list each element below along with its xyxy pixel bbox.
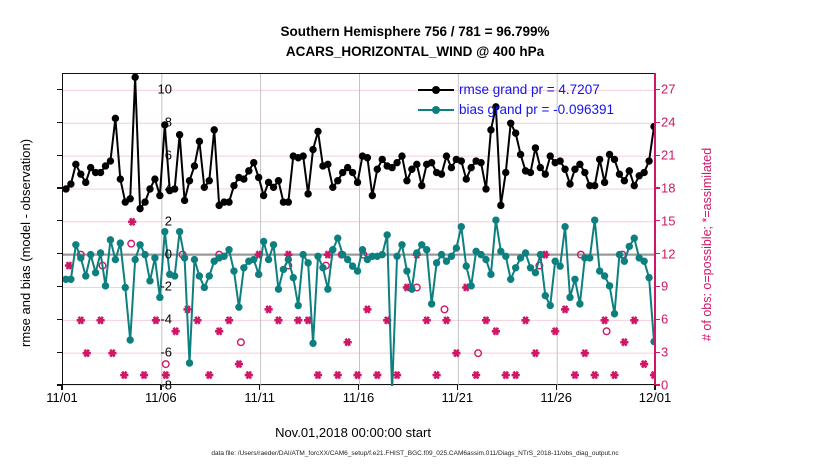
bias-series-point [147,278,153,284]
obs-possible-marker [238,339,245,346]
rmse-series-point [419,182,425,188]
obs-assimilated-marker [423,317,431,324]
bias-series-point [344,256,350,262]
y-axis-right-tick-label: 15 [661,213,691,228]
obs-assimilated-marker [235,361,243,368]
bias-series-point [438,251,444,257]
obs-assimilated-marker [172,328,180,335]
bias-series-point [508,276,514,282]
bias-series-point [512,265,518,271]
figure-footer-datafile: data file: /Users/raeder/DAI/ATM_forcXX/… [0,450,830,457]
rmse-series-point [572,166,578,172]
bias-series-point [305,260,311,266]
rmse-series-point [83,179,89,185]
bias-series-point [611,311,617,317]
legend-swatch-bias [418,103,454,117]
rmse-series-point [374,166,380,172]
chart-title-line-2: ACARS_HORIZONTAL_WIND @ 400 hPa [0,42,830,62]
rmse-series-point [132,74,138,80]
x-axis-label: Nov.01,2018 00:00:00 start [0,425,830,440]
obs-assimilated-marker [294,317,302,324]
rmse-series-point [498,202,504,208]
rmse-series-point [201,184,207,190]
legend-label-rmse: rmse grand pr = 4.7207 [459,80,600,100]
rmse-series-point [547,153,553,159]
obs-possible-marker [441,306,448,313]
bias-series-point [231,268,237,274]
obs-assimilated-marker [128,218,136,225]
bias-series-point [157,294,163,300]
rmse-series-point [379,156,385,162]
y-axis-right-tick-label: 27 [661,82,691,97]
y-axis-right-label: # of obs: o=possible; *=assimilated [700,148,714,341]
bias-series-point [349,263,355,269]
rmse-series-point [87,164,93,170]
obs-assimilated-marker [314,372,322,379]
rmse-series-point [651,123,656,129]
rmse-series-point [478,159,484,165]
bias-series-point [226,247,232,253]
obs-assimilated-marker [502,372,510,379]
rmse-series-point [63,186,69,192]
obs-assimilated-marker [245,372,253,379]
rmse-series-point [68,181,74,187]
rmse-series-point [567,181,573,187]
bias-series-point [409,286,415,292]
rmse-series-point [265,179,271,185]
rmse-series-point [196,138,202,144]
y-axis-right-tick-label: 6 [661,312,691,327]
bias-series-point [335,235,341,241]
bias-series-point [171,273,177,279]
rmse-series-point [97,169,103,175]
bias-series-point [626,243,632,249]
obs-assimilated-marker [442,317,450,324]
bias-series-point [176,228,182,234]
obs-assimilated-marker [393,372,401,379]
obs-assimilated-marker [152,317,160,324]
bias-series-point [290,274,296,280]
obs-assimilated-marker [601,317,609,324]
rmse-series-point [78,171,84,177]
obs-assimilated-marker [571,372,579,379]
rmse-series-point [255,174,261,180]
obs-assimilated-marker [193,317,201,324]
rmse-series-point [611,156,617,162]
chart-legend: rmse grand pr = 4.7207 bias grand pr = -… [418,80,614,120]
bias-series-point [152,255,158,261]
obs-assimilated-marker [561,306,569,313]
obs-assimilated-marker [531,350,539,357]
x-axis-tick-label: 11/01 [46,390,78,405]
bias-series-point [196,273,202,279]
bias-series-point [191,256,197,262]
bias-series-point [443,258,449,264]
obs-assimilated-marker [373,372,381,379]
obs-assimilated-marker [334,372,342,379]
plot-series-layer [63,74,656,386]
bias-series-point [359,247,365,253]
obs-assimilated-marker [512,372,520,379]
rmse-series-point [117,176,123,182]
rmse-series-point [147,186,153,192]
rmse-series-point [631,182,637,188]
bias-series-point [478,251,484,257]
bias-series-point [428,301,434,307]
bias-series-point [275,286,281,292]
bias-series-point [592,217,598,223]
rmse-series-point [137,205,143,211]
rmse-series-point [339,169,345,175]
bias-series-point [241,265,247,271]
bias-series-point [394,253,400,259]
obs-assimilated-marker [492,328,500,335]
rmse-series-point [152,176,158,182]
bias-series-point [488,271,494,277]
obs-assimilated-marker [108,350,116,357]
bias-series-point [404,268,410,274]
bias-series-point [433,260,439,266]
rmse-series-point [537,164,543,170]
rmse-series-point [305,191,311,197]
bias-series-point [577,301,583,307]
bias-series-point [137,242,143,248]
bias-series-point [300,251,306,257]
rmse-series-point [404,178,410,184]
rmse-series-point [107,158,113,164]
bias-series-point [87,251,93,257]
rmse-series-point [231,182,237,188]
rmse-series-point [206,178,212,184]
chart-title: Southern Hemisphere 756 / 781 = 96.799% … [0,22,830,62]
bias-series-point [527,265,533,271]
x-axis-tick-label: 11/21 [442,390,474,405]
bias-series-point [320,265,326,271]
bias-series-point [567,294,573,300]
bias-series-point [503,253,509,259]
rmse-series-point [300,153,306,159]
bias-series-point [522,250,528,256]
rmse-series-point [596,156,602,162]
bias-series-point [181,255,187,261]
obs-assimilated-marker [640,361,648,368]
rmse-series-point [344,164,350,170]
obs-possible-marker [128,240,135,247]
bias-series-point [542,292,548,298]
rmse-series-point [162,122,168,128]
rmse-series-point [414,161,420,167]
rmse-series-point [211,127,217,133]
bias-series-point [498,248,504,254]
x-axis-tick-label: 12/01 [639,390,672,405]
bias-series-point [468,283,474,289]
bias-series-point [107,237,113,243]
bias-series-point [646,274,652,280]
bias-series-point [651,338,656,344]
rmse-series-point [112,115,118,121]
bias-series-point [606,283,612,289]
rmse-series-point [542,171,548,177]
obs-assimilated-marker [274,317,282,324]
bias-series-point [83,273,89,279]
bias-series-point [463,263,469,269]
y-axis-right-tick-label: 0 [661,378,691,393]
bias-series-point [186,360,192,366]
rmse-series-point [592,182,598,188]
rmse-series-point [181,197,187,203]
rmse-series-point [626,168,632,174]
y-axis-right-tick-label: 3 [661,345,691,360]
obs-assimilated-marker [96,317,104,324]
rmse-series-point [616,171,622,177]
rmse-series-point [438,171,444,177]
bias-series-point [517,255,523,261]
obs-assimilated-marker [551,328,559,335]
rmse-series-point [646,158,652,164]
rmse-series-point [330,184,336,190]
obs-assimilated-marker [353,372,361,379]
obs-possible-marker [603,328,610,335]
rmse-series-point [226,199,232,205]
bias-series-point [112,256,118,262]
bias-series-point [621,258,627,264]
y-axis-left-label: rmse and bias (model - observation) [18,139,33,347]
bias-series-point [236,304,242,310]
rmse-series-point [275,178,281,184]
bias-series-point [162,228,168,234]
x-axis-tick-label: 11/06 [145,390,177,405]
rmse-series-point [176,132,182,138]
obs-assimilated-marker [77,317,85,324]
rmse-series-point [508,120,514,126]
bias-series-point [414,250,420,256]
rmse-series-point [527,169,533,175]
bias-series-point [596,268,602,274]
rmse-series-point [517,151,523,157]
rmse-series-point [315,128,321,134]
legend-swatch-rmse [418,83,454,97]
rmse-series-point [191,163,197,169]
rmse-series-point [394,159,400,165]
rmse-series-point [186,178,192,184]
rmse-series-point [270,184,276,190]
bias-series-point [354,268,360,274]
obs-assimilated-marker [215,328,223,335]
bias-series-point [384,232,390,238]
y-axis-right-tick-label: 12 [661,246,691,261]
bias-series-point [280,266,286,272]
rmse-series-point [285,199,291,205]
obs-assimilated-marker [521,317,529,324]
rmse-series-point [557,158,563,164]
y-axis-right-tick-label: 9 [661,279,691,294]
bias-series-point [631,235,637,241]
obs-assimilated-marker [591,372,599,379]
bias-series-point [483,256,489,262]
obs-assimilated-marker [120,372,128,379]
rmse-series-point [349,169,355,175]
bias-series-point [142,251,148,257]
rmse-series-point [260,192,266,198]
bias-series-point [562,224,568,230]
rmse-series-point [127,196,133,202]
obs-assimilated-marker [162,372,170,379]
rmse-series-point [428,159,434,165]
bias-series-point [532,269,538,275]
rmse-series-point [582,169,588,175]
x-axis-tick-label: 11/26 [540,390,572,405]
bias-series-point [616,251,622,257]
bias-series-point [547,302,553,308]
bias-series-point [557,263,563,269]
obs-assimilated-marker [432,372,440,379]
rmse-series-point [641,169,647,175]
rmse-series-point [399,153,405,159]
x-axis-tick-label: 11/11 [244,390,275,405]
bias-series-point [102,283,108,289]
bias-series-point [132,256,138,262]
bias-series-point [330,247,336,253]
bias-series-point [399,242,405,248]
chart-title-line-1: Southern Hemisphere 756 / 781 = 96.799% [0,22,830,42]
rmse-series-point [458,158,464,164]
bias-series-point [251,256,257,262]
rmse-series-point [512,130,518,136]
rmse-series-point [483,186,489,192]
rmse-series-point [142,199,148,205]
bias-series-point [117,240,123,246]
rmse-series-point [325,161,331,167]
rmse-series-point [369,192,375,198]
bias-series-point [339,251,345,257]
obs-assimilated-marker [140,372,148,379]
y-axis-right-tick-label: 18 [661,180,691,195]
bias-series-point [68,276,74,282]
bias-series-point [379,251,385,257]
rmse-series-point [606,151,612,157]
figure-canvas: Southern Hemisphere 756 / 781 = 96.799% … [0,0,830,470]
rmse-series-point [73,161,79,167]
obs-assimilated-marker [482,317,490,324]
obs-assimilated-marker [344,339,352,346]
obs-assimilated-marker [650,372,656,379]
bias-series-line [66,220,654,386]
obs-assimilated-marker [225,317,233,324]
bias-series-point [78,255,84,261]
bias-series-point [419,242,425,248]
bias-series-point [572,276,578,282]
rmse-series-point [157,192,163,198]
legend-item-bias: bias grand pr = -0.096391 [418,100,614,120]
rmse-series-point [310,146,316,152]
rmse-series-point [503,169,509,175]
rmse-series-point [102,163,108,169]
rmse-series-point [246,168,252,174]
rmse-series-point [488,127,494,133]
bias-series-point [537,251,543,257]
obs-assimilated-marker [83,350,91,357]
bias-series-point [310,340,316,346]
obs-possible-marker [162,361,169,368]
rmse-series-point [335,178,341,184]
bias-series-point [552,258,558,264]
bias-series-point [448,253,454,259]
rmse-series-point [409,166,415,172]
bias-series-point [221,253,227,259]
legend-label-bias: bias grand pr = -0.096391 [459,100,614,120]
rmse-series-point [577,161,583,167]
rmse-series-point [448,164,454,170]
obs-assimilated-marker [581,350,589,357]
rmse-series-point [443,153,449,159]
rmse-series-point [171,186,177,192]
obs-assimilated-marker [630,317,638,324]
rmse-series-point [354,179,360,185]
bias-series-point [424,247,430,253]
bias-series-point [453,245,459,251]
rmse-series-point [251,159,257,165]
rmse-series-point [621,178,627,184]
bias-series-point [295,302,301,308]
bias-series-point [255,271,261,277]
bias-series-point [493,217,499,223]
bias-series-point [270,242,276,248]
obs-assimilated-marker [610,372,618,379]
bias-series-point [601,273,607,279]
obs-assimilated-marker [620,339,628,346]
bias-series-point [641,258,647,264]
bias-series-point [285,256,291,262]
rmse-series-point [562,166,568,172]
obs-assimilated-marker [452,350,460,357]
obs-assimilated-marker [205,372,213,379]
bias-series-point [206,273,212,279]
x-axis-tick-label: 11/16 [343,390,375,405]
legend-item-rmse: rmse grand pr = 4.7207 [418,80,614,100]
bias-series-point [73,242,79,248]
bias-series-point [92,269,98,275]
y-axis-right-tick-label: 21 [661,148,691,163]
obs-assimilated-marker [363,306,371,313]
bias-series-point [201,284,207,290]
bias-series-point [127,337,133,343]
bias-series-point [325,286,331,292]
rmse-series-point [463,176,469,182]
rmse-series-point [532,145,538,151]
bias-series-point [260,238,266,244]
rmse-series-point [601,179,607,185]
obs-assimilated-marker [472,372,480,379]
rmse-series-point [389,164,395,170]
obs-assimilated-marker [264,306,272,313]
bias-series-point [122,284,128,290]
y-axis-right-tick-label: 24 [661,115,691,130]
rmse-series-point [241,176,247,182]
rmse-series-point [468,164,474,170]
bias-series-point [97,250,103,256]
bias-series-point [265,256,271,262]
plot-svg [63,74,656,386]
bias-series-point [315,253,321,259]
bias-series-point [458,224,464,230]
bias-series-point [587,255,593,261]
rmse-series-point [364,155,370,161]
